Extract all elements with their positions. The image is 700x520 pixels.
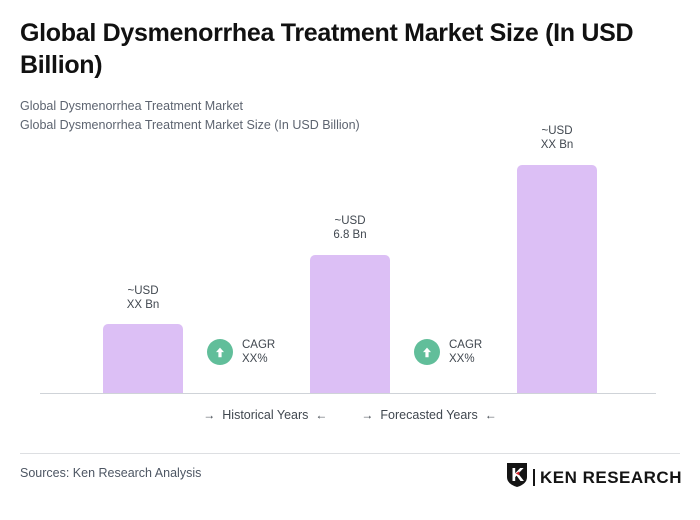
bar-value-label-1-line2: XX Bn [103, 298, 183, 312]
period-forecasted: → Forecasted Years ← [361, 408, 496, 422]
bar-value-label-3-line2: XX Bn [517, 138, 597, 152]
period-historical-label: Historical Years [222, 408, 308, 422]
period-forecasted-label: Forecasted Years [380, 408, 477, 422]
bar-2[interactable] [310, 255, 390, 394]
arrow-left-icon: ← [485, 408, 497, 422]
bar-value-label-3: ~USD XX Bn [517, 124, 597, 153]
logo-wordmark: KEN RESEARCH [540, 469, 682, 486]
cagr-label-1-line2: XX% [242, 352, 275, 366]
cagr-label-2-line1: CAGR [449, 338, 482, 352]
cagr-label-2: CAGR XX% [449, 338, 482, 367]
bar-value-label-1: ~USD XX Bn [103, 284, 183, 313]
bar-value-label-2-line1: ~USD [310, 214, 390, 228]
shield-k-icon [506, 462, 528, 493]
chart-page: Global Dysmenorrhea Treatment Market Siz… [0, 0, 700, 520]
cagr-badge-2[interactable]: CAGR XX% [414, 338, 482, 367]
cagr-label-1: CAGR XX% [242, 338, 275, 367]
bar-1[interactable] [103, 324, 183, 394]
cagr-label-2-line2: XX% [449, 352, 482, 366]
bar-value-label-2-line2: 6.8 Bn [310, 228, 390, 242]
footer-divider [20, 453, 680, 454]
logo-divider [533, 469, 535, 486]
arrow-right-icon: → [203, 408, 215, 422]
bar-value-label-1-line1: ~USD [103, 284, 183, 298]
bar-value-label-3-line1: ~USD [517, 124, 597, 138]
sources-text: Sources: Ken Research Analysis [20, 466, 201, 480]
bar-3[interactable] [517, 165, 597, 394]
ken-research-logo: KEN RESEARCH [506, 462, 682, 493]
period-legend: → Historical Years ← → Forecasted Years … [0, 408, 700, 422]
axis-baseline [40, 393, 656, 394]
arrow-right-icon: → [361, 408, 373, 422]
cagr-label-1-line1: CAGR [242, 338, 275, 352]
up-arrow-icon [414, 339, 440, 365]
arrow-left-icon: ← [315, 408, 327, 422]
period-historical: → Historical Years ← [203, 408, 327, 422]
up-arrow-icon [207, 339, 233, 365]
bar-value-label-2: ~USD 6.8 Bn [310, 214, 390, 243]
cagr-badge-1[interactable]: CAGR XX% [207, 338, 275, 367]
bar-chart: ~USD XX Bn CAGR XX% ~USD 6.8 Bn [0, 0, 700, 400]
